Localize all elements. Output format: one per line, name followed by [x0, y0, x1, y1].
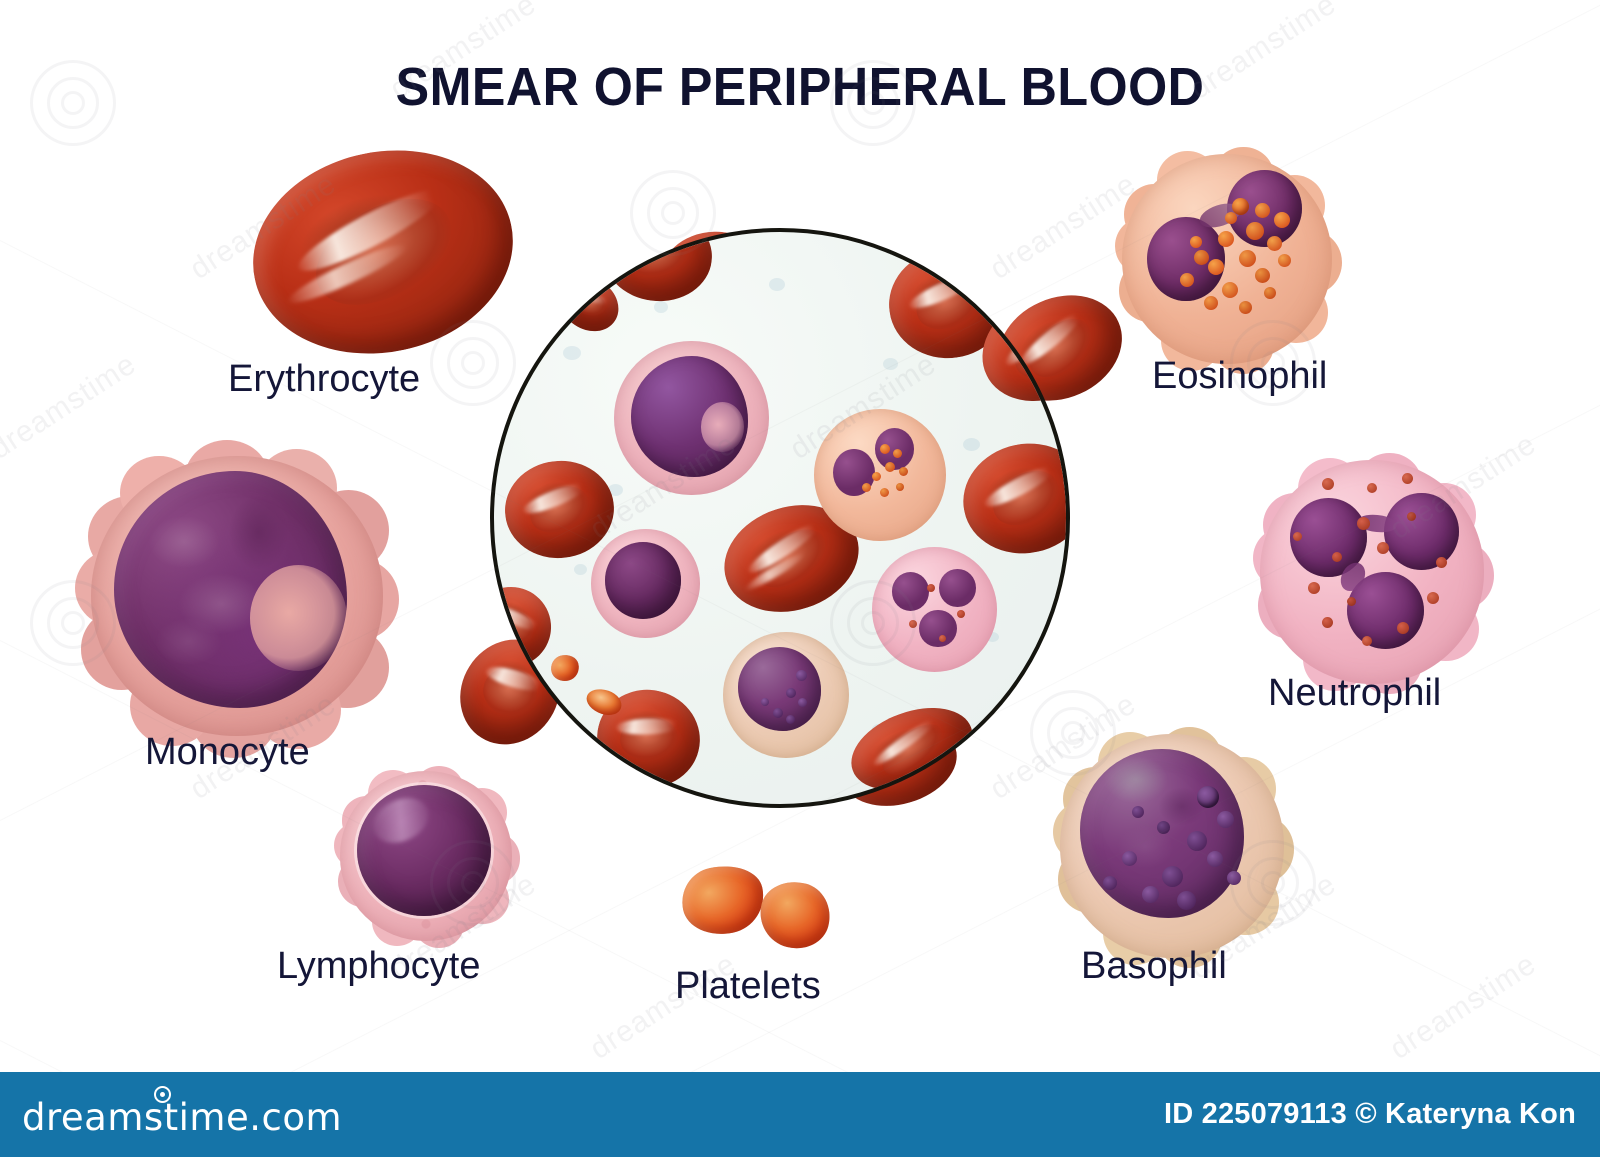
illustration-canvas: SMEAR OF PERIPHERAL BLOOD Erythrocyte — [0, 0, 1600, 1157]
monocyte-cell — [75, 440, 399, 752]
scope-eosinophil — [814, 409, 946, 541]
erythrocyte-body — [234, 127, 532, 377]
label-lymphocyte: Lymphocyte — [277, 945, 480, 988]
platelet-2 — [753, 875, 837, 956]
scope-neutrophil — [872, 547, 998, 673]
label-basophil: Basophil — [1081, 945, 1227, 988]
neutrophil-cell — [1248, 448, 1496, 696]
eosinophil-granules — [1110, 142, 1344, 376]
watermark-text: dreamstime — [1384, 947, 1542, 1066]
dreamstime-logo[interactable]: dreamstime.com — [22, 1096, 342, 1139]
platelets-group — [682, 860, 852, 952]
label-erythrocyte: Erythrocyte — [228, 358, 420, 401]
page-title: SMEAR OF PERIPHERAL BLOOD — [56, 56, 1544, 118]
platelet-1 — [676, 858, 770, 942]
label-monocyte: Monocyte — [145, 731, 310, 774]
basophil-cell — [1048, 722, 1296, 970]
scope-lymphocyte — [591, 529, 700, 638]
image-credit: ID 225079113 © Kateryna Kon — [1164, 1098, 1576, 1131]
monocyte-nucleus-notch — [250, 565, 347, 671]
neutrophil-granules — [1248, 448, 1496, 696]
eosinophil-cell — [1110, 142, 1344, 376]
erythrocyte-cell — [252, 152, 514, 352]
microscope-field-circle — [490, 228, 1070, 808]
scope-basophil — [723, 632, 849, 758]
footer-bar: dreamstime.com ID 225079113 © Kateryna K… — [0, 1072, 1600, 1157]
scope-monocyte — [614, 341, 768, 495]
label-eosinophil: Eosinophil — [1152, 355, 1327, 398]
spiral-logo-icon — [154, 1086, 171, 1103]
label-platelets: Platelets — [675, 965, 821, 1008]
label-neutrophil: Neutrophil — [1268, 672, 1441, 715]
